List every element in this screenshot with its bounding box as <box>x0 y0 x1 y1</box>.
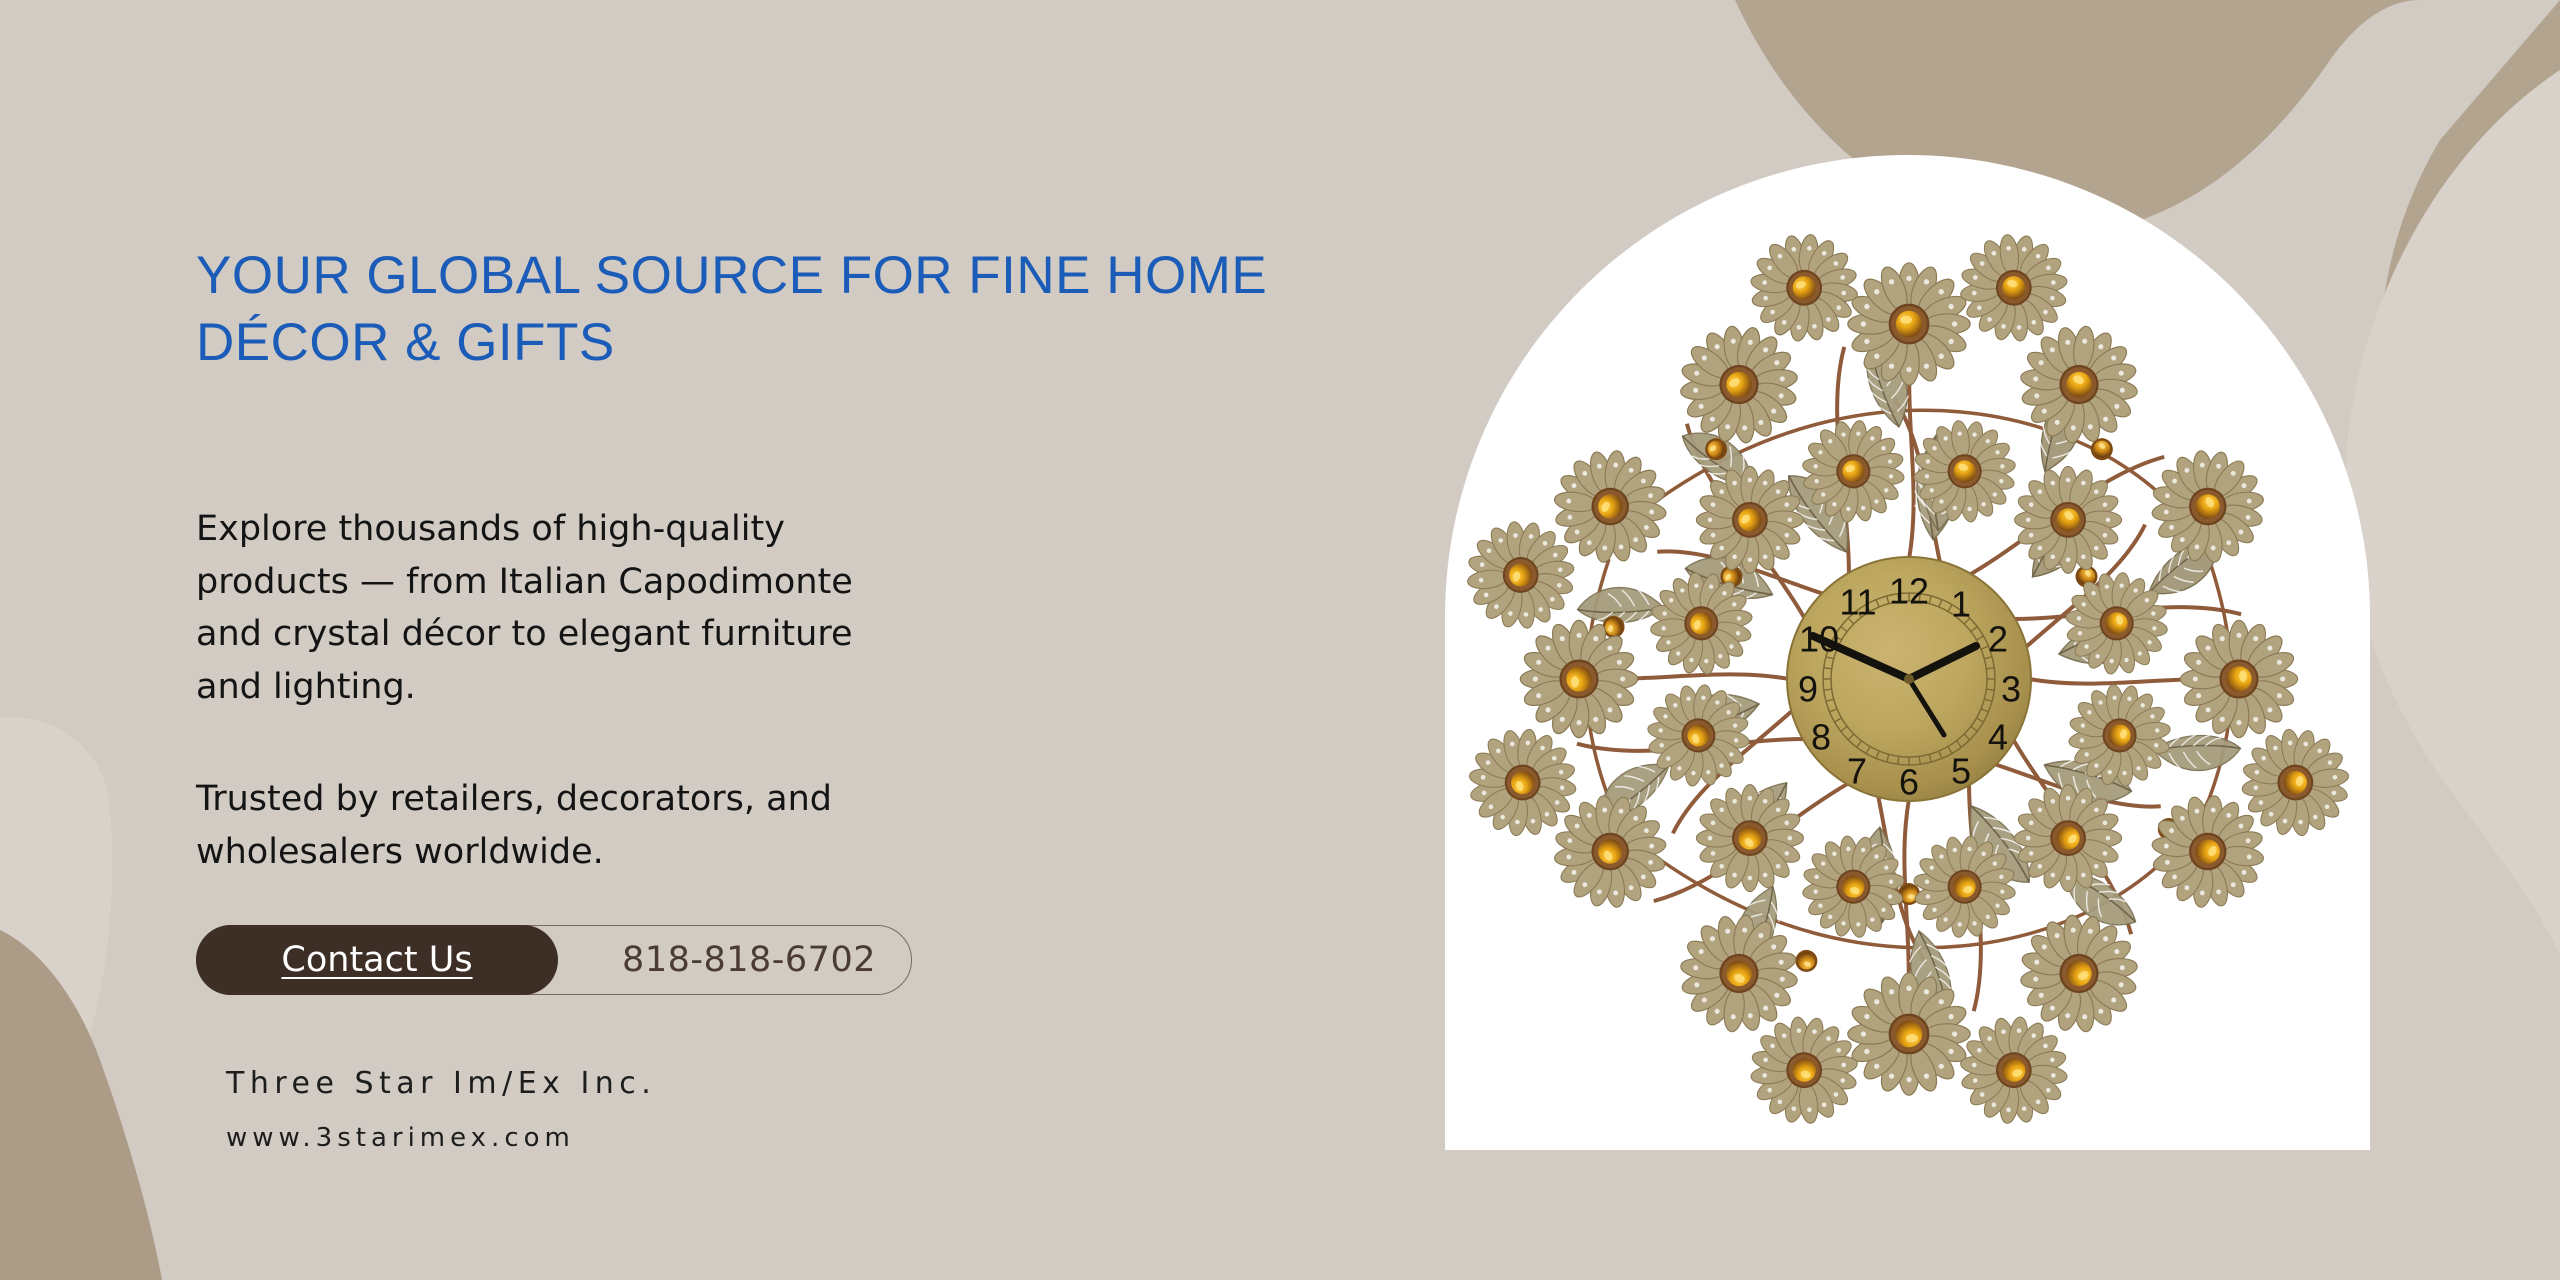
clock-center-pin <box>1904 674 1914 684</box>
body-paragraph-1: Explore thousands of high-quality produc… <box>196 503 956 713</box>
clock-numeral-12: 12 <box>1889 571 1929 612</box>
clock-numeral-6: 6 <box>1899 762 1919 803</box>
clock-numeral-3: 3 <box>2001 669 2021 710</box>
footer-block: Three Star Im/Ex Inc. www.3starimex.com <box>226 1066 656 1153</box>
clock-numeral-7: 7 <box>1847 751 1867 792</box>
website-url[interactable]: www.3starimex.com <box>226 1123 656 1153</box>
clock-numeral-11: 11 <box>1839 582 1876 623</box>
clock-numeral-4: 4 <box>1988 717 2008 758</box>
hero-content: YOUR GLOBAL SOURCE FOR FINE HOME DÉCOR &… <box>196 0 1376 1280</box>
body-paragraph-2: Trusted by retailers, decorators, and wh… <box>196 773 956 878</box>
banner-canvas: YOUR GLOBAL SOURCE FOR FINE HOME DÉCOR &… <box>0 0 2560 1280</box>
contact-us-label: Contact Us <box>281 940 472 980</box>
phone-number[interactable]: 818-818-6702 <box>622 925 876 995</box>
clock-numeral-8: 8 <box>1811 717 1831 758</box>
clock-numeral-9: 9 <box>1798 669 1818 710</box>
clock-illustration: 12 1 2 3 4 5 6 7 8 9 10 11 <box>1445 179 2370 1150</box>
contact-us-button[interactable]: Contact Us <box>196 925 558 995</box>
clock-dial: 12 1 2 3 4 5 6 7 8 9 10 11 <box>1787 557 2031 803</box>
floral-wall-clock-image: 12 1 2 3 4 5 6 7 8 9 10 11 <box>1445 155 2370 1150</box>
cta-row: 818-818-6702 Contact Us <box>196 925 914 997</box>
clock-numeral-2: 2 <box>1988 619 2008 660</box>
clock-numeral-1: 1 <box>1951 584 1971 625</box>
company-name: Three Star Im/Ex Inc. <box>226 1066 656 1101</box>
product-image-panel: 12 1 2 3 4 5 6 7 8 9 10 11 <box>1445 155 2370 1150</box>
clock-numeral-5: 5 <box>1951 751 1971 792</box>
page-title: YOUR GLOBAL SOURCE FOR FINE HOME DÉCOR &… <box>196 242 1346 377</box>
blob-top-right-beige <box>2346 70 2560 955</box>
